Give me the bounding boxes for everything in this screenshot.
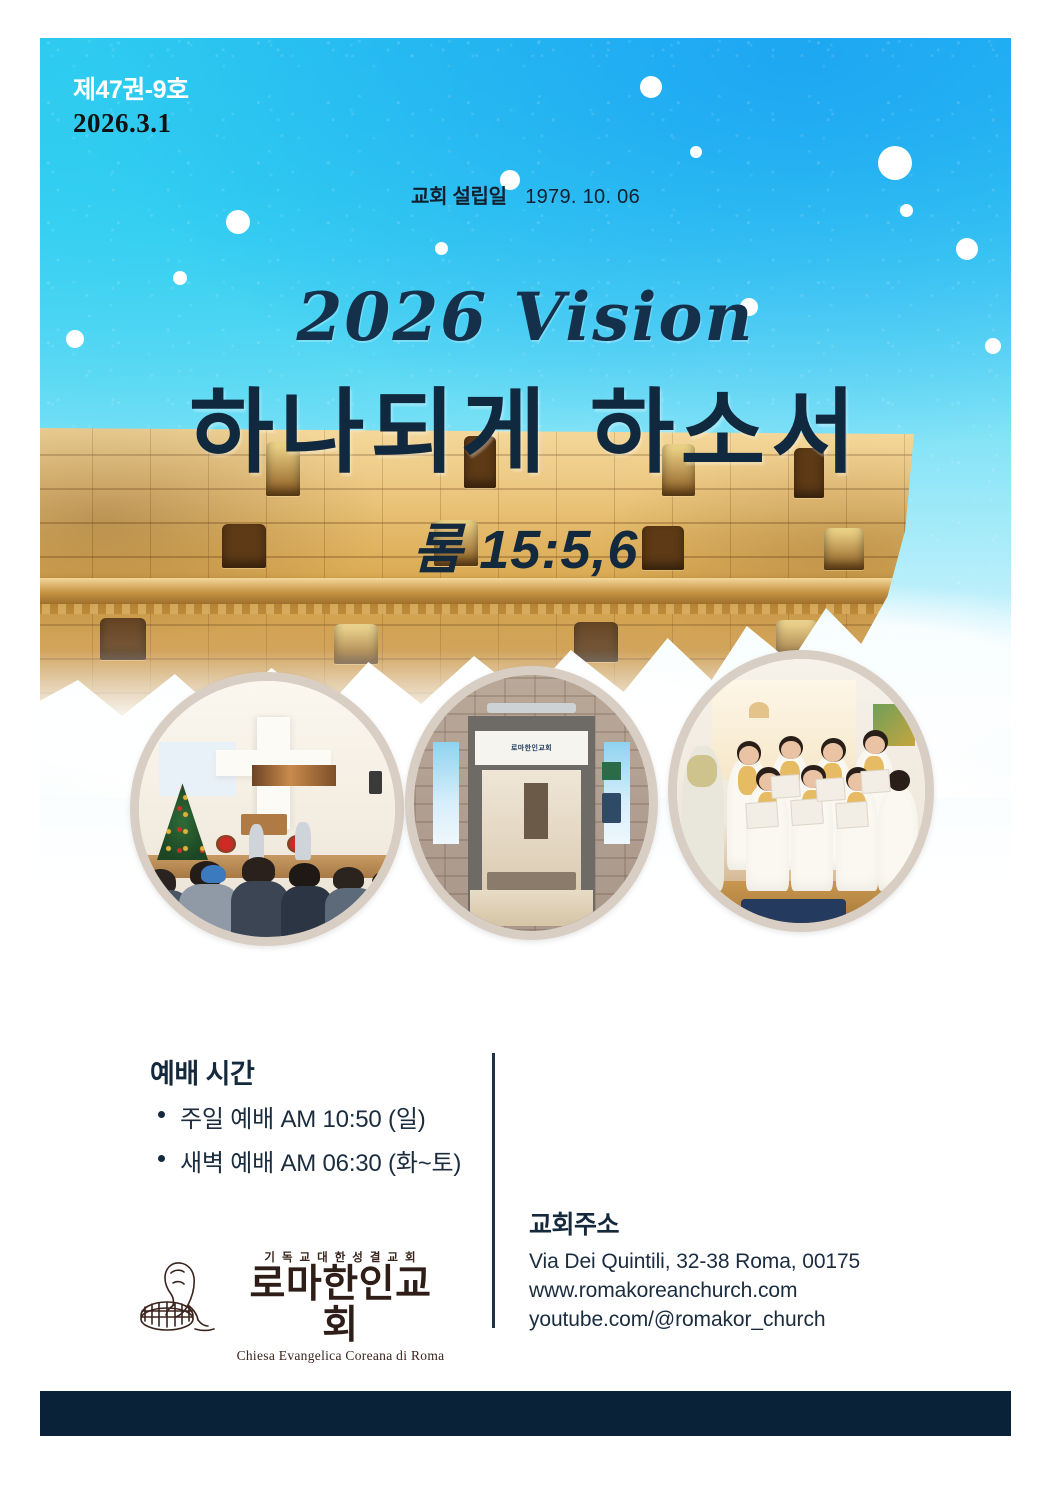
church-address-block: 교회주소 Via Dei Quintili, 32-38 Roma, 00175… <box>529 1205 959 1335</box>
choir-conductor <box>682 746 724 891</box>
youtube-url[interactable]: youtube.com/@romakor_church <box>529 1306 959 1335</box>
service-times-list: 주일 예배 AM 10:50 (일) 새벽 예배 AM 06:30 (화~토) <box>150 1099 480 1178</box>
choir-member-head <box>888 770 910 791</box>
screen-graphic <box>749 702 769 718</box>
volume-number: 제47권-9호 <box>73 70 189 106</box>
sanctuary-worship-photo <box>130 672 404 946</box>
service-times-title: 예배 시간 <box>150 1052 480 1091</box>
speaker-icon <box>369 771 382 794</box>
section-divider <box>492 1053 495 1328</box>
bokeh-dot <box>435 242 448 255</box>
entrance-lamp <box>487 703 576 713</box>
congregant-body <box>325 888 378 937</box>
church-name-sign: 로마한인교회 <box>475 731 588 764</box>
founding-date-line: 교회 설립일 1979. 10. 06 <box>0 180 1051 209</box>
music-sheet <box>860 769 891 794</box>
music-sheet <box>770 774 801 799</box>
bible-verse-reference: 롬 15:5,6 <box>0 505 1051 584</box>
street-address: Via Dei Quintili, 32-38 Roma, 00175 <box>529 1248 959 1277</box>
website-url[interactable]: www.romakoreanchurch.com <box>529 1277 959 1306</box>
church-entrance-photo: 로마한인교회 <box>405 666 658 940</box>
church-italian-name: Chiesa Evangelica Coreana di Roma <box>233 1348 448 1364</box>
congregant-head <box>242 857 275 882</box>
bokeh-dot <box>878 146 912 180</box>
pulpit <box>241 814 287 834</box>
choir-member-face <box>739 746 759 764</box>
main-theme-text: 하나되게 하소서 <box>189 379 862 486</box>
colosseum-cornice-detail <box>40 604 914 614</box>
music-sheet <box>790 798 823 826</box>
footer-bar <box>40 1391 1011 1436</box>
interior-door <box>524 783 548 839</box>
wall-banner <box>252 765 336 785</box>
mailbox <box>602 793 621 824</box>
choir-member-face <box>823 743 843 761</box>
main-theme-title: 하나되게 하소서 <box>0 358 1051 491</box>
church-address-title: 교회주소 <box>529 1205 959 1241</box>
founding-date-value: 1979. 10. 06 <box>525 186 640 208</box>
choir-member-face <box>781 741 801 759</box>
door-mat <box>487 872 576 890</box>
bokeh-dot <box>226 210 250 234</box>
music-sheet <box>815 777 846 802</box>
congregant-head <box>289 863 319 887</box>
music-sheet <box>835 800 868 828</box>
issue-date: 2026.3.1 <box>73 108 172 139</box>
list-item: 새벽 예배 AM 06:30 (화~토) <box>150 1143 480 1178</box>
bible-verse-text: 롬 15:5,6 <box>413 520 639 580</box>
choir-member <box>878 788 918 891</box>
vision-year-text: 2026 Vision <box>296 278 754 356</box>
entrance-floor <box>470 890 592 926</box>
praying-figure-colosseum-icon <box>138 1253 224 1337</box>
front-pew <box>741 899 845 923</box>
wall-plaque <box>602 762 621 780</box>
choir-performance-photo <box>668 650 934 932</box>
list-item: 주일 예배 AM 10:50 (일) <box>150 1099 480 1134</box>
bokeh-dot <box>640 76 662 98</box>
music-sheet <box>746 800 779 828</box>
congregation <box>130 840 404 937</box>
church-logo: 기독교대한성결교회 로마한인교회 Chiesa Evangelica Corea… <box>138 1249 448 1341</box>
vision-year-heading: 2026 Vision <box>0 278 1051 356</box>
congregant-head <box>333 867 363 890</box>
service-times-block: 예배 시간 주일 예배 AM 10:50 (일) 새벽 예배 AM 06:30 … <box>150 1052 480 1187</box>
entrance-poster <box>433 742 459 844</box>
bokeh-dot <box>956 238 978 260</box>
church-name: 로마한인교회 <box>233 1265 448 1347</box>
church-logo-text: 기독교대한성결교회 로마한인교회 Chiesa Evangelica Corea… <box>233 1249 448 1364</box>
founding-date-label: 교회 설립일 <box>411 186 507 208</box>
congregant-head <box>201 865 226 883</box>
church-name-sign-text: 로마한인교회 <box>511 743 552 753</box>
bokeh-dot <box>690 146 702 158</box>
